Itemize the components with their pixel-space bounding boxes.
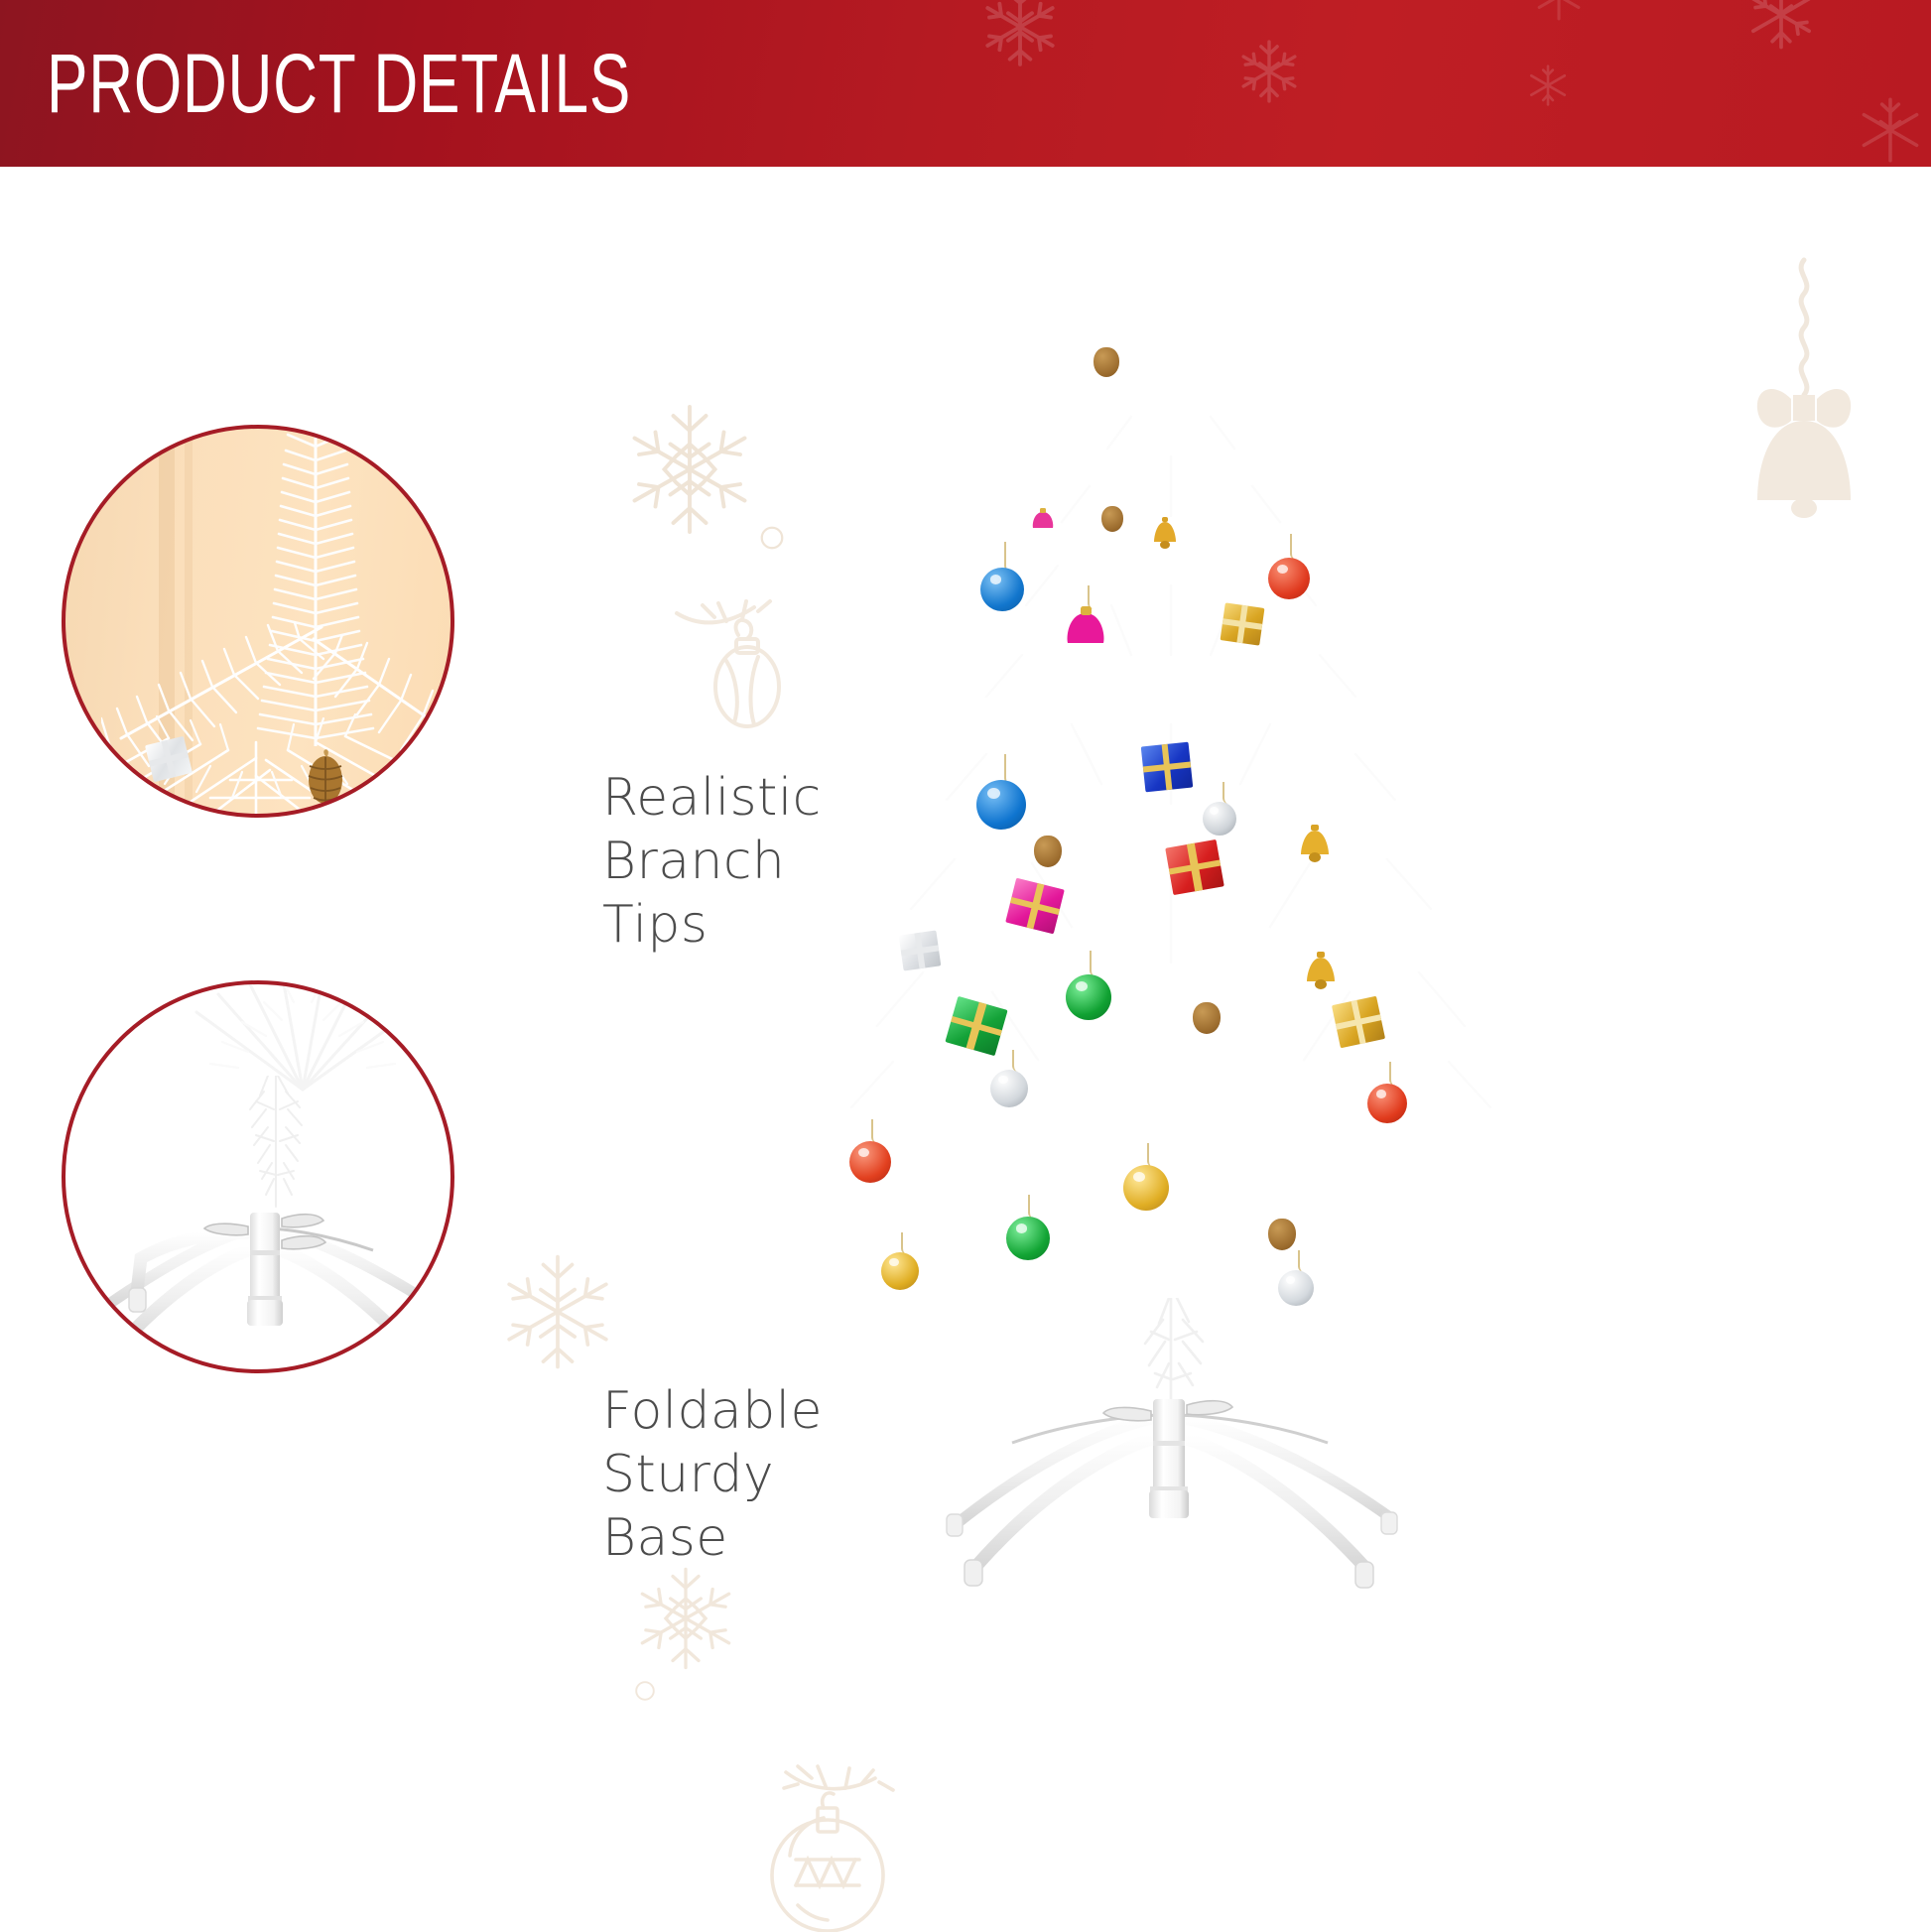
ornament-hook <box>1290 534 1304 560</box>
snowflake-icon <box>1856 95 1925 165</box>
silver-bauble-ornament <box>1278 1270 1314 1306</box>
red-gift-box-ornament <box>1165 839 1224 895</box>
snowflake-icon <box>1235 38 1303 105</box>
snowflake-watermark <box>615 395 764 544</box>
product-image-christmas-tree <box>774 189 1931 1931</box>
gold-bauble-ornament <box>881 1252 919 1290</box>
foldable-base-photo <box>62 980 454 1373</box>
pinecone-ornament <box>1034 836 1062 867</box>
pinecone-ornament <box>1101 506 1123 532</box>
ornament-hook <box>1028 1195 1042 1219</box>
snowflake-icon <box>1526 64 1570 107</box>
ornament-hook <box>1090 951 1103 976</box>
page-header-banner: PRODUCT DETAILS <box>0 0 1931 167</box>
blue-gift-box-ornament <box>1141 742 1194 793</box>
gold-gift-box-ornament <box>1332 996 1385 1049</box>
green-bauble-ornament <box>1006 1217 1050 1260</box>
branch-tips-photo <box>62 425 454 818</box>
snowflake-icon <box>1744 0 1818 52</box>
pinecone-ornament <box>1268 1219 1296 1250</box>
green-bauble-ornament <box>1066 974 1111 1020</box>
branch-foliage-bottom <box>62 681 454 818</box>
ornament-hook <box>1004 754 1020 784</box>
ornament-hook <box>1223 782 1236 804</box>
snowflake-icon <box>977 0 1063 69</box>
pinecone-ornament <box>298 744 353 808</box>
red-bauble-ornament <box>1367 1084 1407 1123</box>
ornament-hook <box>1147 1143 1161 1167</box>
gold-bell-ornament <box>1304 951 1338 990</box>
ornament-hook <box>1389 1062 1403 1086</box>
silver-bauble-ornament <box>990 1070 1028 1107</box>
ornament-hook <box>1298 1250 1312 1272</box>
snowflake-watermark <box>492 1246 623 1377</box>
blue-bauble-ornament <box>976 780 1026 830</box>
red-bauble-ornament <box>849 1141 891 1183</box>
snowflake-icon <box>1533 0 1585 22</box>
snowflake-watermark-dot <box>633 1679 657 1703</box>
blue-bauble-ornament <box>980 568 1024 611</box>
gold-bell-ornament <box>1151 516 1179 550</box>
pink-bauble-ornament <box>1062 605 1109 647</box>
snowflake-watermark <box>627 1560 744 1677</box>
pinecone-ornament <box>1094 347 1119 377</box>
gold-gift-box-ornament <box>1221 602 1265 645</box>
gold-bauble-ornament <box>1123 1165 1169 1211</box>
red-bauble-ornament <box>1268 558 1310 599</box>
ornament-hook <box>901 1232 915 1254</box>
gold-bell-ornament <box>1298 824 1332 863</box>
silver-bauble-ornament <box>1203 802 1236 836</box>
page-title: PRODUCT DETAILS <box>47 42 631 125</box>
foldable-tree-stand <box>69 1185 454 1373</box>
pink-bauble-ornament <box>1030 508 1056 532</box>
tree-stand <box>903 1391 1439 1610</box>
pinecone-ornament <box>1193 1002 1221 1034</box>
ornament-hook <box>1012 1050 1026 1072</box>
ornament-hook <box>871 1119 885 1143</box>
silver-gift-box-ornament <box>899 931 942 971</box>
